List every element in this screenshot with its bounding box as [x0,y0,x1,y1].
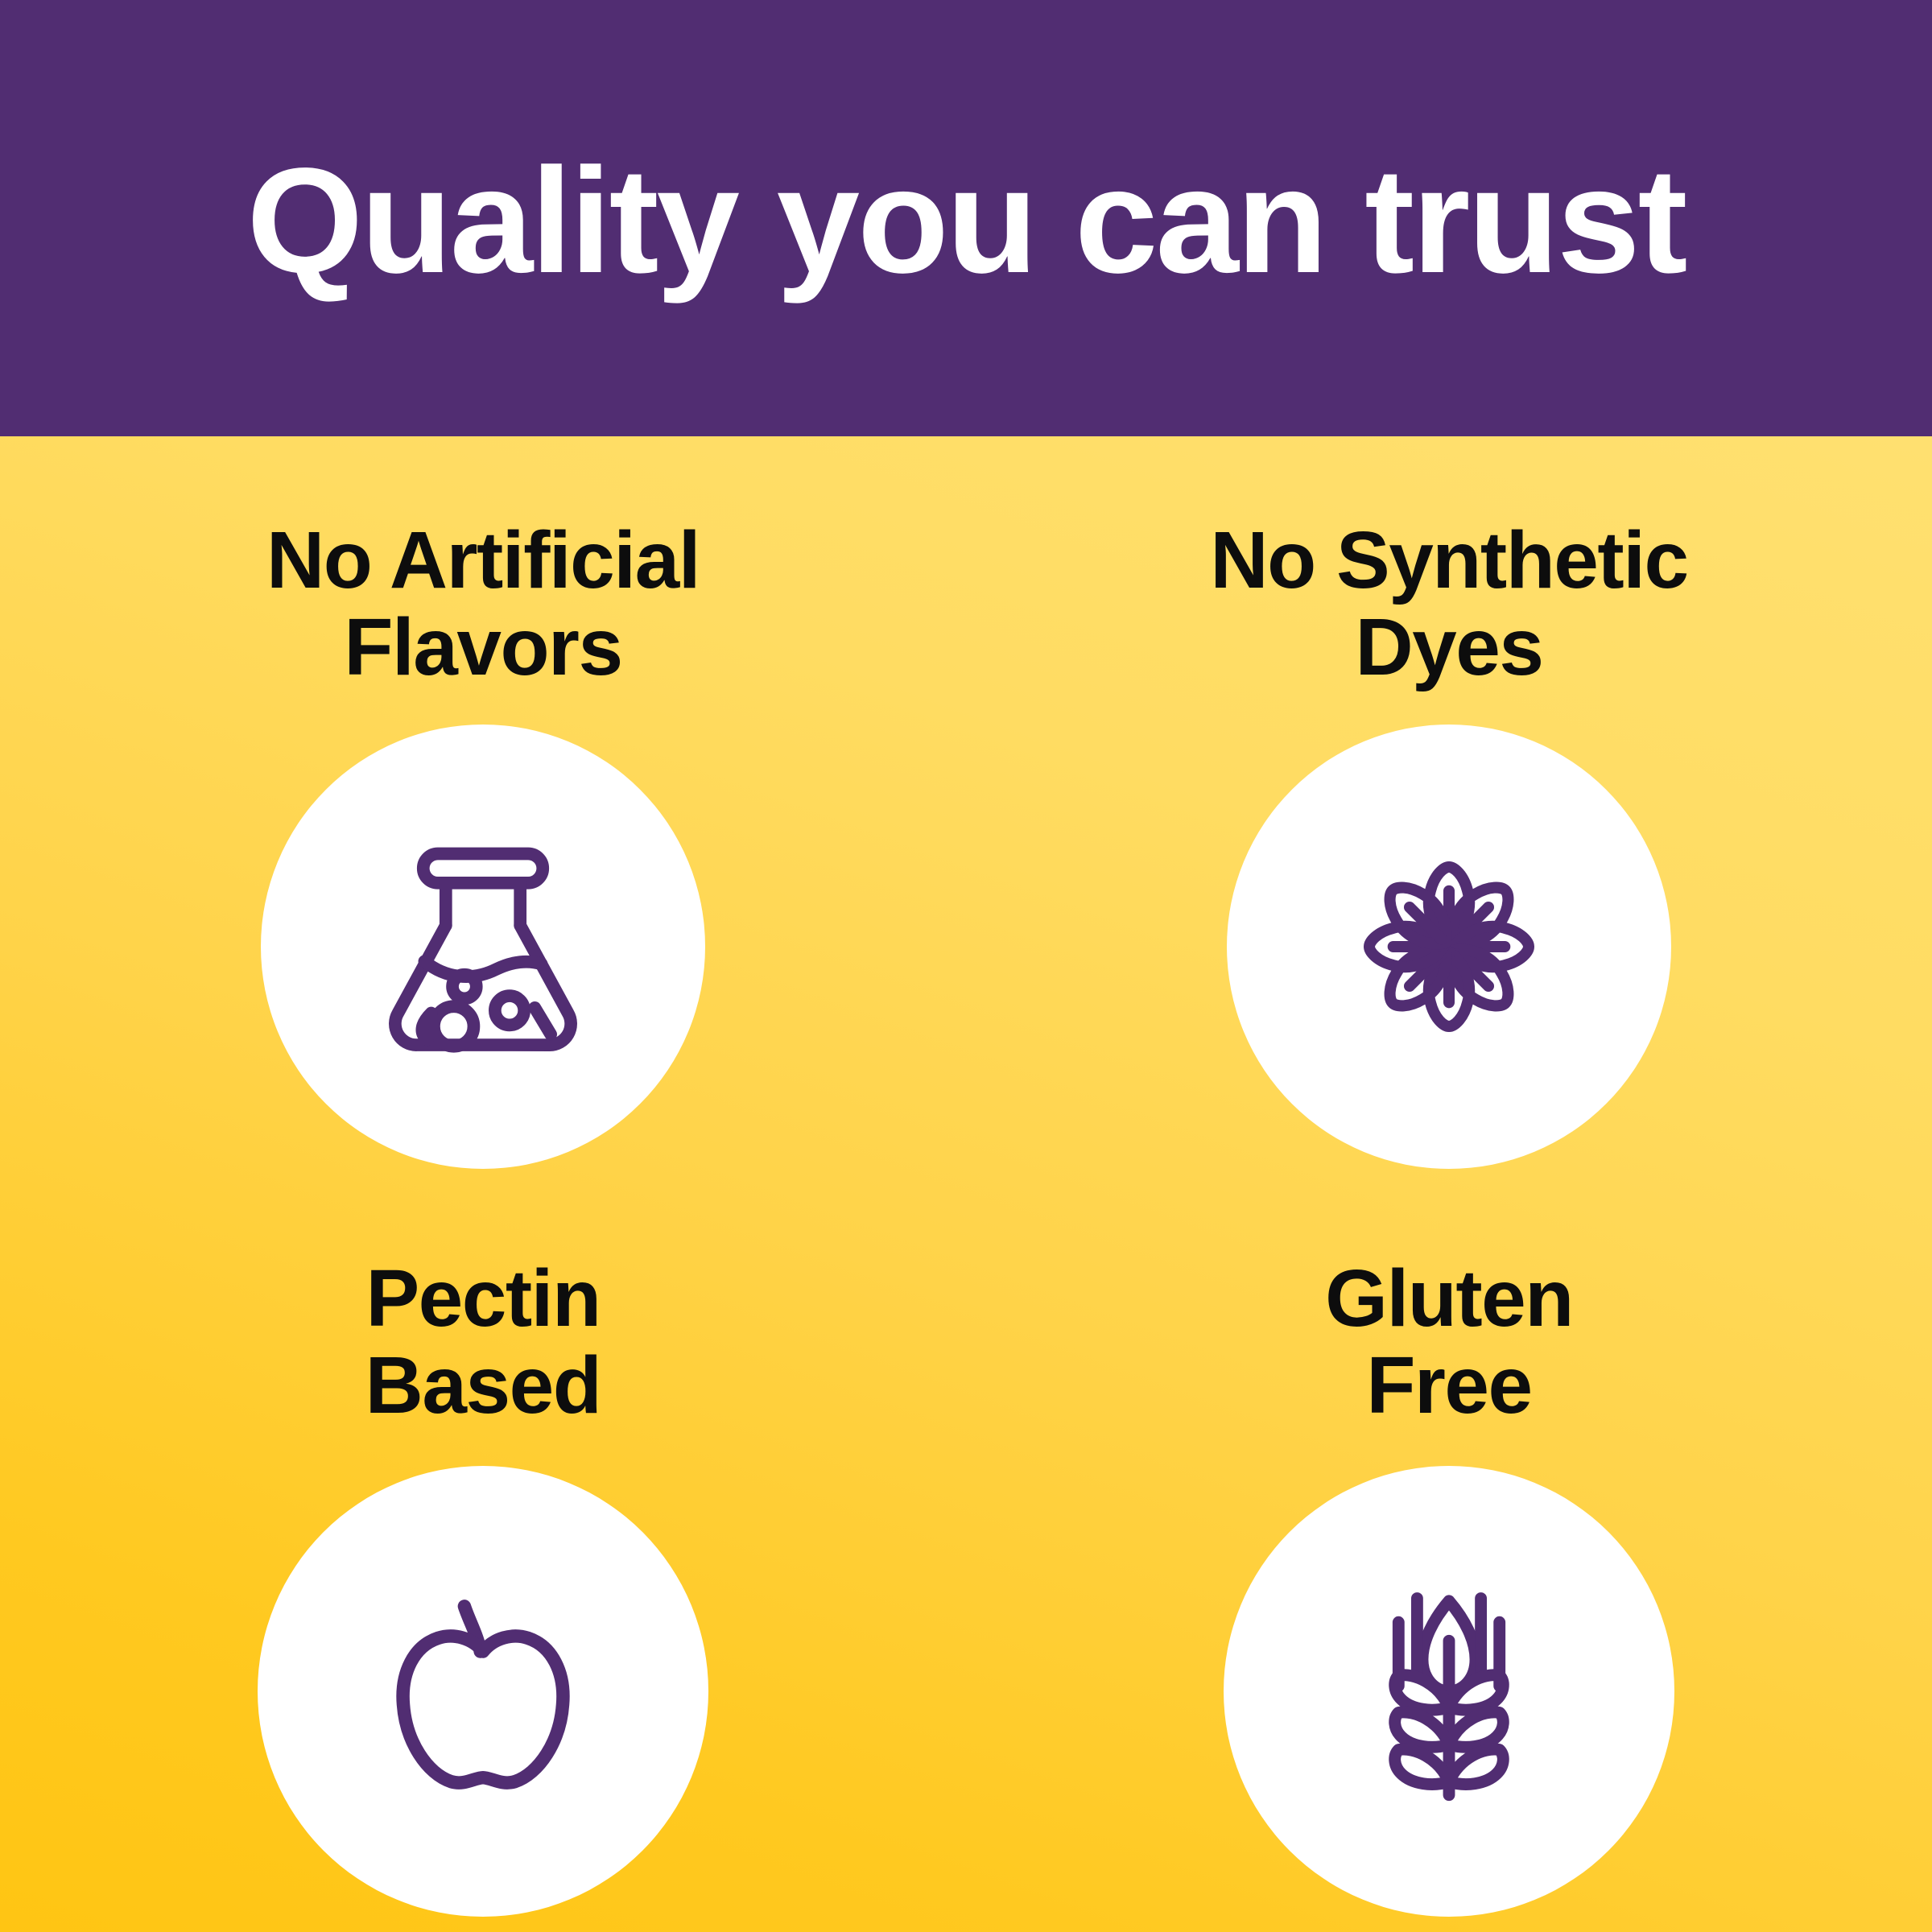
flask-icon [350,814,616,1080]
page-title: Quality you can trust [246,147,1685,296]
feature-label-line1: Gluten [1325,1253,1573,1344]
flower-burst-icon [1316,814,1582,1080]
apple-icon [350,1558,616,1824]
feature-icon-badge [261,724,705,1169]
feature-label-line2: Flavors [344,602,621,692]
header-band: Quality you can trust [0,0,1932,436]
feature-pectin-based: Pectin Based [0,1184,966,1932]
feature-label-line1: No Artificial [266,515,700,605]
feature-gluten-free: Gluten Free [966,1184,1932,1932]
feature-label-line2: Based [365,1340,601,1430]
feature-label: No Synthetic Dyes [1210,517,1687,691]
quality-badges-poster: Quality you can trust No Artificial Flav… [0,0,1932,1932]
feature-label-line1: No Synthetic [1210,515,1687,605]
feature-icon-badge [1227,724,1671,1169]
feature-label: Gluten Free [1325,1255,1573,1429]
feature-label: No Artificial Flavors [266,517,700,691]
feature-label: Pectin Based [365,1255,601,1429]
feature-label-line2: Dyes [1355,602,1542,692]
feature-no-artificial-flavors: No Artificial Flavors [0,436,966,1184]
feature-icon-badge [258,1466,708,1917]
wheat-icon [1316,1558,1582,1824]
feature-no-synthetic-dyes: No Synthetic Dyes [966,436,1932,1184]
feature-grid: No Artificial Flavors [0,436,1932,1932]
feature-icon-badge [1224,1466,1674,1917]
feature-label-line2: Free [1366,1340,1531,1430]
feature-label-line1: Pectin [365,1253,600,1344]
